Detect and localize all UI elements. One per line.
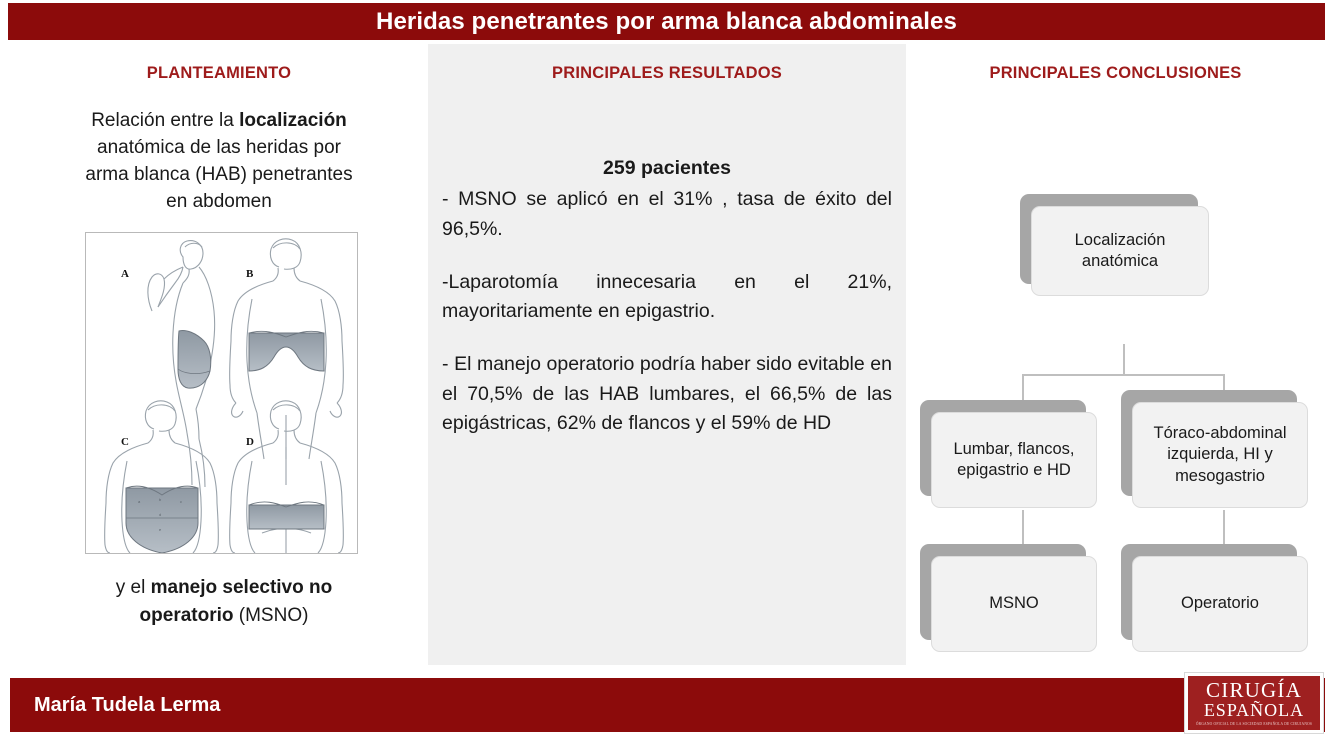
closing-paragraph: y el manejo selectivo no operatorio (MSN… [74, 574, 374, 629]
result-paragraph-3: - El manejo operatorio podría haber sido… [442, 350, 892, 438]
figure-label-b: B [246, 268, 254, 280]
figure-label-d: D [246, 436, 254, 448]
flowchart-node-msno[interactable]: MSNO [920, 544, 1086, 640]
logo-title-line2: ESPAÑOLA [1204, 701, 1304, 721]
svg-text:d: d [159, 512, 161, 517]
figure-label-c: C [121, 436, 129, 448]
node-label-msno: MSNO [931, 556, 1097, 652]
intro-text-bold: localización [239, 110, 347, 131]
logo-inner: CIRUGÍA ESPAÑOLA ÓRGANO OFICIAL DE LA SO… [1188, 676, 1320, 730]
spacer-2 [442, 326, 892, 350]
connector-left-leaf [1022, 510, 1024, 545]
flowchart-node-localizacion[interactable]: Localización anatómica [1020, 194, 1198, 284]
node-label-localizacion: Localización anatómica [1031, 206, 1209, 296]
flowchart-node-toraco[interactable]: Tóraco-abdominal izquierda, HI y mesogas… [1121, 390, 1297, 496]
closing-text-part1: y el [116, 577, 151, 598]
node-label-lumbar: Lumbar, flancos, epigastrio e HD [931, 412, 1097, 508]
header-bar: Heridas penetrantes por arma blanca abdo… [8, 3, 1325, 40]
column-heading-planteamiento: PLANTEAMIENTO [10, 64, 428, 83]
spacer-1 [442, 244, 892, 268]
page-title: Heridas penetrantes por arma blanca abdo… [376, 8, 957, 36]
cirugia-espanola-logo: CIRUGÍA ESPAÑOLA ÓRGANO OFICIAL DE LA SO… [1184, 672, 1324, 734]
connector-right-leaf [1223, 510, 1225, 545]
node-label-operatorio: Operatorio [1132, 556, 1308, 652]
result-paragraph-2: -Laparotomía innecesaria en el 21%, mayo… [442, 268, 892, 327]
author-name: María Tudela Lerma [34, 694, 220, 717]
logo-title-line1: CIRUGÍA [1206, 680, 1302, 701]
column-heading-resultados: PRINCIPALES RESULTADOS [428, 64, 906, 83]
column-planteamiento: PLANTEAMIENTO Relación entre la localiza… [10, 44, 428, 665]
closing-text-part2: (MSNO) [234, 605, 309, 626]
connector-root-down [1123, 344, 1125, 376]
connector-left-down [1022, 374, 1024, 402]
results-body: 259 pacientes - MSNO se aplicó en el 31%… [442, 154, 892, 438]
anatomy-figure-svg: A [86, 233, 357, 553]
connector-horizontal [1022, 374, 1225, 376]
intro-text-part2: anatómica de las heridas por arma blanca… [85, 137, 352, 212]
result-paragraph-1: - MSNO se aplicó en el 31% , tasa de éxi… [442, 185, 892, 244]
node-label-toraco: Tóraco-abdominal izquierda, HI y mesogas… [1132, 402, 1308, 508]
intro-paragraph: Relación entre la localización anatómica… [74, 108, 364, 216]
flowchart-node-lumbar[interactable]: Lumbar, flancos, epigastrio e HD [920, 400, 1086, 496]
anatomy-figure: A [85, 232, 358, 554]
svg-text:c: c [180, 499, 182, 504]
conclusions-flowchart: Localización anatómica Lumbar, flancos, … [906, 44, 1325, 665]
column-conclusiones: PRINCIPALES CONCLUSIONES Localización an… [906, 44, 1325, 665]
flowchart-node-operatorio[interactable]: Operatorio [1121, 544, 1297, 640]
patient-count: 259 pacientes [442, 154, 892, 183]
intro-text-part1: Relación entre la [91, 110, 239, 131]
logo-subtitle: ÓRGANO OFICIAL DE LA SOCIEDAD ESPAÑOLA D… [1196, 722, 1312, 726]
figure-label-a: A [121, 268, 129, 280]
column-resultados: PRINCIPALES RESULTADOS 259 pacientes - M… [428, 44, 906, 665]
